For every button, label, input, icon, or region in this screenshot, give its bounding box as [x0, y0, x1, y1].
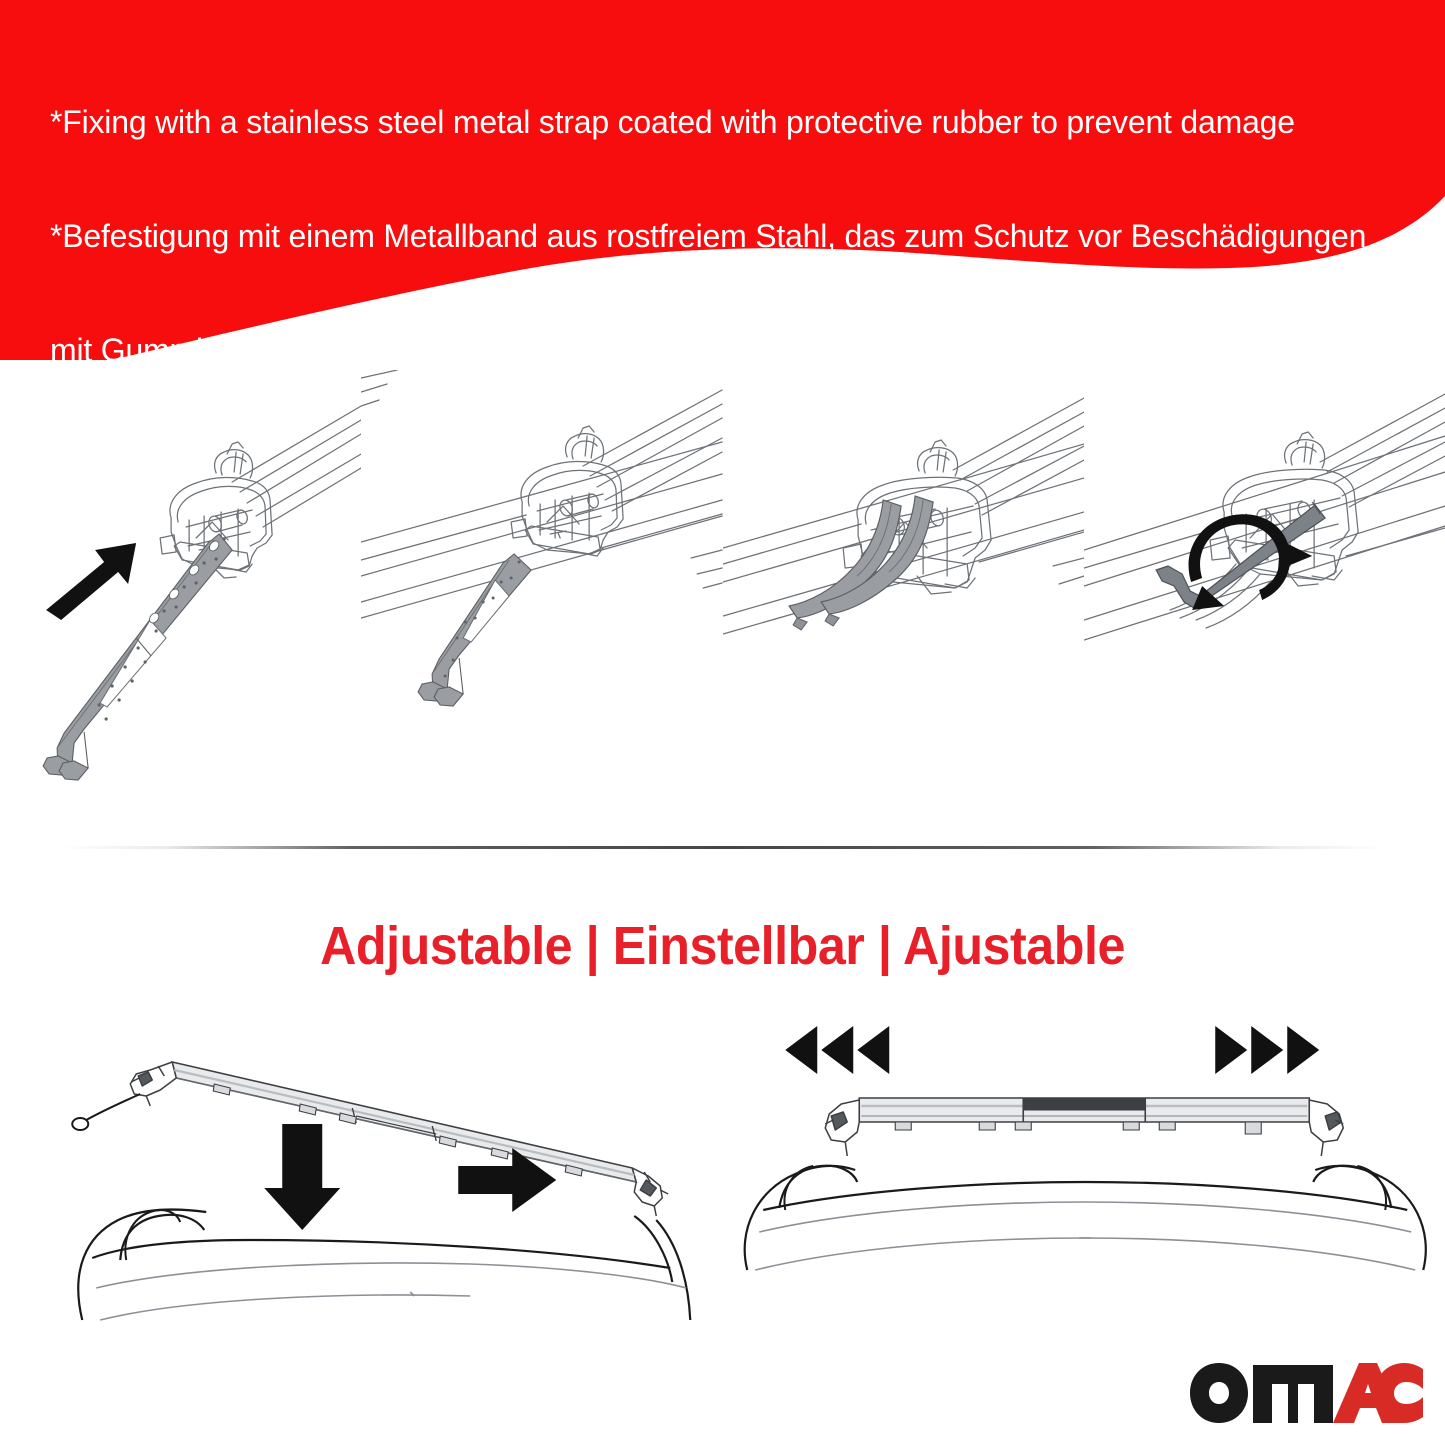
- product-instruction-image: *Fixing with a stainless steel metal str…: [0, 0, 1445, 1445]
- mount-illustration: [0, 1020, 723, 1340]
- metal-strap-step1: [43, 534, 232, 780]
- installation-steps-row: [0, 370, 1445, 820]
- panel-lower-crossbar-onto-roof: [0, 1020, 723, 1340]
- step-1-illustration: [0, 370, 361, 820]
- step-3-illustration: [723, 370, 1084, 820]
- banner-line-de-2: mit Gummi überzogen ist: [50, 331, 1420, 369]
- triple-arrow-left: [785, 1026, 889, 1074]
- triple-arrow-right: [1215, 1026, 1319, 1074]
- omac-logo: [1185, 1355, 1425, 1427]
- logo-letter-m: [1253, 1365, 1333, 1423]
- crossbar-horizontal: [859, 1098, 1309, 1134]
- metal-strap-step3: [789, 496, 933, 630]
- metal-strap-step2: [418, 554, 531, 706]
- width-illustration: [723, 1020, 1445, 1340]
- step-3-strap-wrapped-around-rail: [723, 370, 1084, 820]
- adjustable-heading: Adjustable | Einstellbar | Ajustable: [51, 915, 1395, 977]
- section-divider: [60, 846, 1385, 849]
- step-2-strap-below-roof-rail: [361, 370, 722, 820]
- logo-letter-o: [1190, 1363, 1248, 1423]
- crossbar-tilted: [172, 1062, 636, 1182]
- step-4-illustration: [1084, 370, 1445, 820]
- arrow-insert-up-right: [46, 543, 136, 620]
- step-4-tighten-bolt-with-hex-key: [1084, 370, 1445, 820]
- panel-adjust-crossbar-width: [723, 1020, 1445, 1340]
- step-2-illustration: [361, 370, 722, 820]
- adjustment-panels-row: [0, 1020, 1445, 1340]
- arrow-down: [264, 1124, 340, 1230]
- header-banner: *Fixing with a stainless steel metal str…: [0, 0, 1445, 360]
- banner-line-de-1: *Befestigung mit einem Metallband aus ro…: [50, 217, 1420, 255]
- step-1-insert-strap-into-foot: [0, 370, 361, 820]
- banner-line-en: *Fixing with a stainless steel metal str…: [50, 103, 1420, 141]
- omac-logo-mark: [1185, 1355, 1425, 1427]
